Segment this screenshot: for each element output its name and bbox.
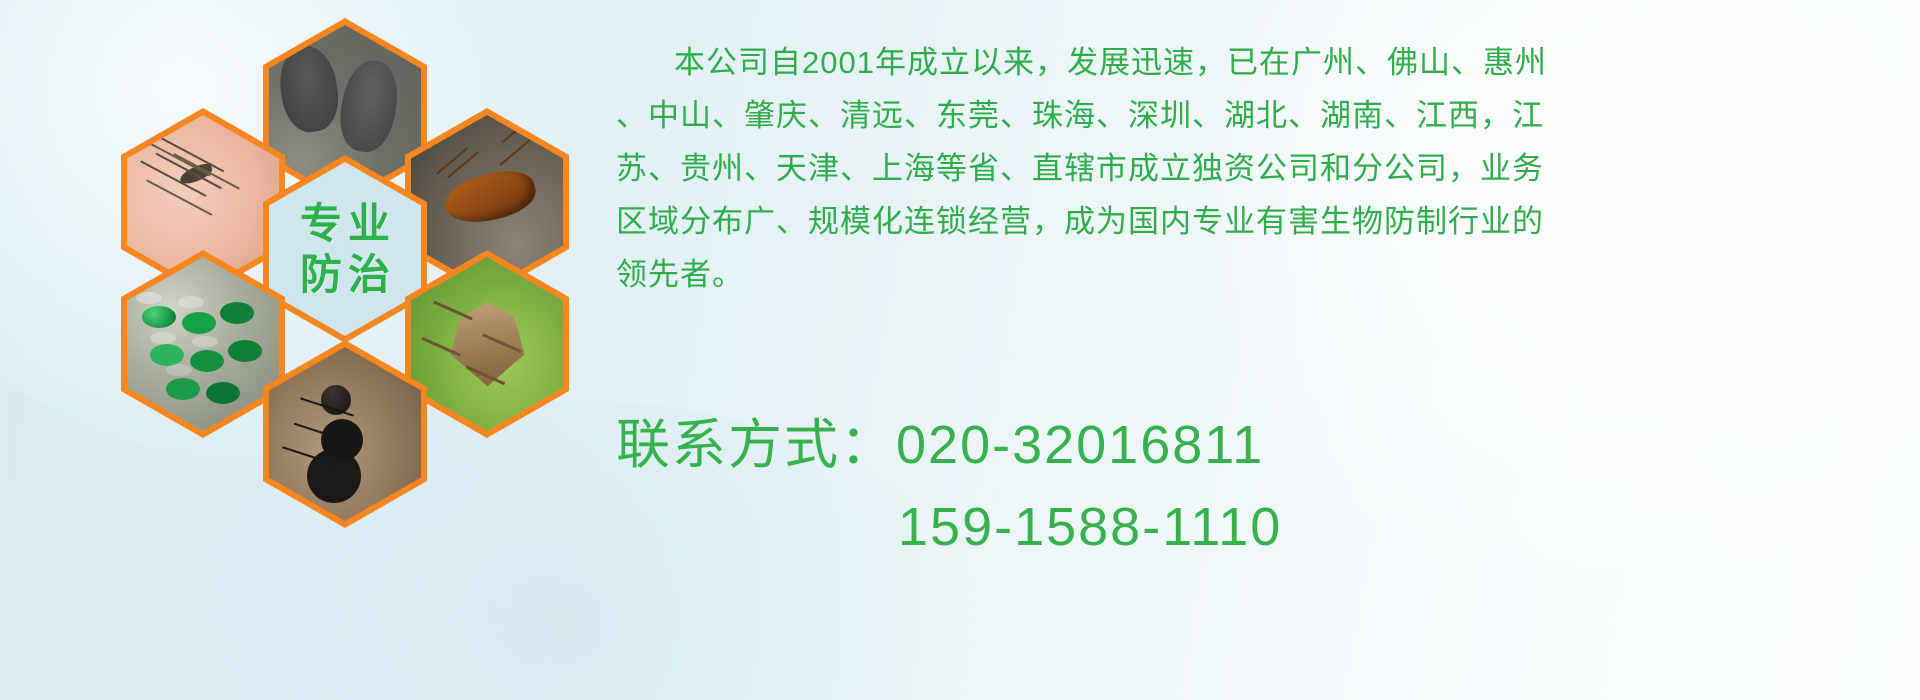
- description-line: 苏、贵州、天津、上海等省、直辖市成立独资公司和分公司，业务: [616, 142, 1906, 195]
- honeycomb-gallery: 专业 防治: [95, 0, 585, 560]
- description-line: 、中山、肇庆、清远、东莞、珠海、深圳、湖北、湖南、江西，江: [616, 89, 1906, 142]
- description-line: 区域分布广、规模化连锁经营，成为国内专业有害生物防制行业的: [616, 195, 1906, 248]
- ant-photo-icon: [269, 347, 421, 521]
- stinkbug-photo-icon: [411, 257, 563, 431]
- hex-tile-stinkbug[interactable]: [405, 250, 569, 438]
- hex-tile-slogan: 专业 防治: [263, 155, 427, 343]
- hex-tile-flies[interactable]: [121, 250, 285, 438]
- contact-phone-secondary[interactable]: 159-1588-1110: [616, 486, 1906, 568]
- contact-info: 联系方式：020-32016811 159-1588-1110: [616, 404, 1906, 568]
- description-line: 本公司自2001年成立以来，发展迅速，已在广州、佛山、惠州: [616, 36, 1906, 89]
- company-description: 本公司自2001年成立以来，发展迅速，已在广州、佛山、惠州 、中山、肇庆、清远、…: [616, 36, 1906, 301]
- slogan-line-2: 防治: [294, 249, 396, 300]
- flies-photo-icon: [127, 257, 279, 431]
- contact-phone-primary[interactable]: 联系方式：020-32016811: [616, 404, 1906, 486]
- slogan-line-1: 专业: [294, 198, 396, 249]
- description-line: 领先者。: [616, 248, 1906, 301]
- hex-tile-ant[interactable]: [263, 340, 427, 528]
